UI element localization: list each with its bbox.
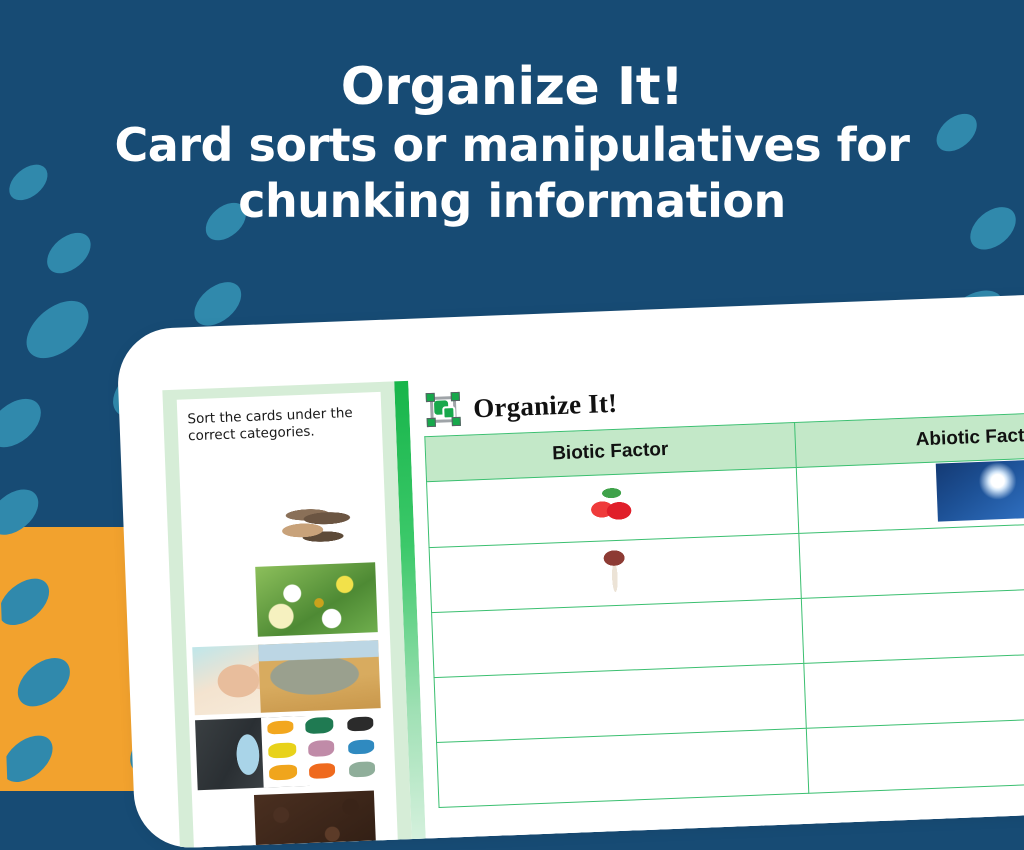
cell-abiotic-3[interactable] (801, 584, 1024, 663)
mushroom-image[interactable] (592, 543, 638, 599)
headline-line-2: Card sorts or manipulatives for (0, 119, 1024, 172)
instruction-text: Sort the cards under the correct categor… (187, 404, 372, 445)
logs-card[interactable] (256, 484, 371, 558)
card-images-column (189, 460, 388, 850)
worksheet-left-paper: Sort the cards under the correct categor… (177, 392, 399, 850)
soil-card[interactable] (254, 790, 377, 849)
sand-hill-card[interactable] (258, 640, 381, 713)
decorative-dot (0, 389, 50, 457)
worksheet-title: Organize It! (473, 387, 618, 424)
strawberries-image[interactable] (569, 478, 655, 531)
decorative-dot (0, 726, 61, 790)
decorative-dot (0, 480, 47, 544)
decorative-dot (39, 225, 98, 282)
worksheet: Sort the cards under the correct categor… (162, 354, 1024, 849)
sun-image[interactable] (935, 460, 1024, 521)
cell-abiotic-2[interactable] (798, 519, 1024, 598)
worksheet-card: Sort the cards under the correct categor… (116, 292, 1024, 850)
headline-line-1: Organize It! (0, 60, 1024, 115)
headline-block: Organize It! Card sorts or manipulatives… (0, 60, 1024, 228)
table-body (427, 453, 1024, 807)
sorting-table: Biotic Factor Abiotic Factor (424, 408, 1024, 808)
bee-card[interactable] (255, 562, 378, 637)
tropical-fish-card[interactable] (261, 713, 384, 788)
cell-biotic-5[interactable] (437, 728, 809, 807)
cell-abiotic-1[interactable] (796, 453, 1024, 533)
headline-line-3: chunking information (0, 175, 1024, 228)
worksheet-right-panel: Organize It! Biotic Factor Abiotic Facto… (408, 354, 1024, 849)
decorative-dot (9, 648, 79, 716)
worksheet-left-panel: Sort the cards under the correct categor… (162, 381, 412, 849)
decorative-dot (16, 290, 99, 370)
organize-frame-icon (425, 391, 462, 428)
decorative-dot (0, 569, 58, 634)
